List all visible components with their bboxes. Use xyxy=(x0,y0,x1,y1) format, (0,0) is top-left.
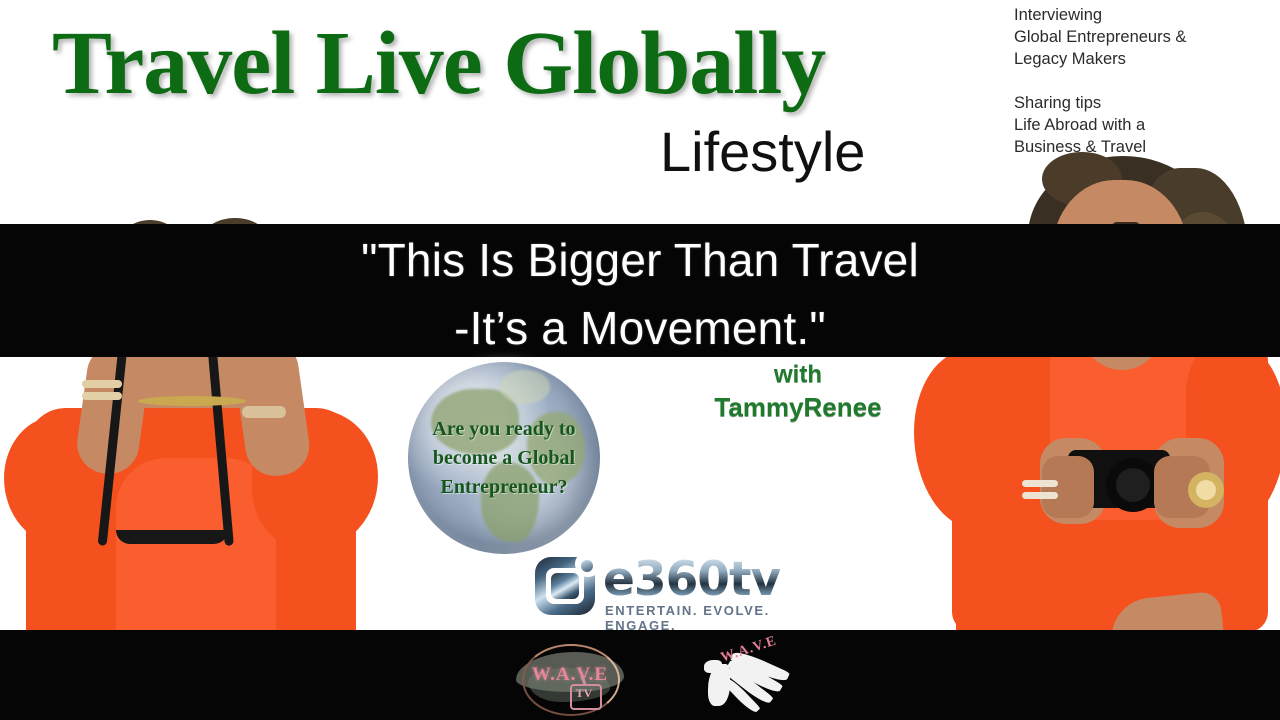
e360tv-logo: e360tv ENTERTAIN. EVOLVE. ENGAGE. xyxy=(535,553,783,621)
e360tv-mark-icon xyxy=(535,557,595,615)
host-credit: with TammyRenee xyxy=(700,360,896,424)
globe-line-1: Are you ready to xyxy=(432,415,575,444)
e360tv-mark-dot xyxy=(581,560,593,572)
wave-wing-logo: W.A.V.E xyxy=(700,638,792,718)
host-with-label: with xyxy=(700,360,896,390)
globe-question-text: Are you ready to become a Global Entrepr… xyxy=(408,362,600,554)
thumbnail-canvas: Travel Live Globally Lifestyle Interview… xyxy=(0,0,1280,720)
blurb-spacer xyxy=(1014,70,1264,92)
blurb-line-5: Life Abroad with a xyxy=(1014,114,1264,136)
quote-text: "This Is Bigger Than Travel -It’s a Move… xyxy=(0,226,1280,362)
globe-callout: Are you ready to become a Global Entrepr… xyxy=(408,362,600,554)
e360tv-tagline: ENTERTAIN. EVOLVE. ENGAGE. xyxy=(605,603,783,633)
blurb-line-1: Interviewing xyxy=(1014,4,1264,26)
globe-line-3: Entrepreneur? xyxy=(440,473,567,502)
e360tv-wordmark: e360tv xyxy=(603,555,780,605)
show-description: Interviewing Global Entrepreneurs & Lega… xyxy=(1014,4,1264,158)
blurb-line-4: Sharing tips xyxy=(1014,92,1264,114)
e360tv-mark-inner-square xyxy=(551,573,579,599)
wave-tv-logo: W.A.V.E TV xyxy=(512,638,628,718)
globe-line-2: become a Global xyxy=(433,444,575,473)
blurb-line-2: Global Entrepreneurs & xyxy=(1014,26,1264,48)
wave-tv-screen-label: TV xyxy=(570,686,598,701)
page-subtitle: Lifestyle xyxy=(660,122,865,182)
quote-line-2: -It’s a Movement." xyxy=(0,294,1280,362)
page-title: Travel Live Globally xyxy=(52,16,825,112)
blurb-line-3: Legacy Makers xyxy=(1014,48,1264,70)
host-name: TammyRenee xyxy=(700,390,896,424)
wave-tv-wordmark: W.A.V.E xyxy=(512,664,628,686)
quote-line-1: "This Is Bigger Than Travel xyxy=(361,234,919,286)
footer-banner-background xyxy=(0,630,1280,720)
blurb-line-6: Business & Travel xyxy=(1014,136,1264,158)
